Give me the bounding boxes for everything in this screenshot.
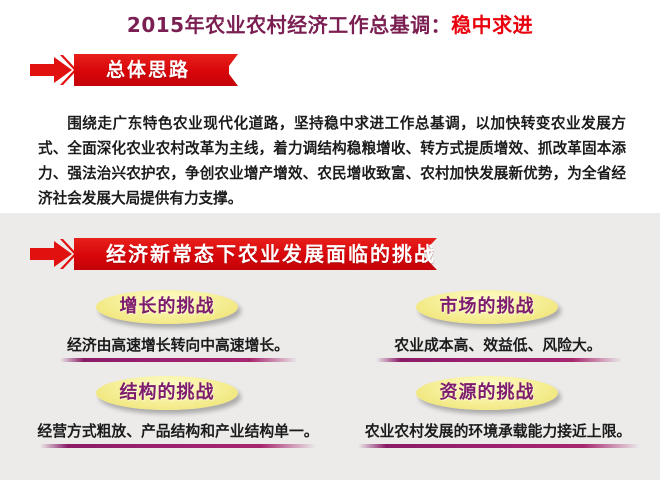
challenge-pill: 市场的挑战 (416, 290, 558, 324)
overview-paragraph: 围绕走广东特色农业现代化道路，坚持稳中求进工作总基调，以加快转变农业发展方式、全… (38, 111, 626, 211)
challenge-description: 经济由高速增长转向中高速增长。 (18, 334, 338, 355)
overview-banner-notch (208, 54, 238, 86)
page-title-emphasis: 稳中求进 (451, 13, 533, 37)
challenges-banner: 经济新常态下农业发展面临的挑战 (30, 238, 450, 270)
challenge-description: 农业成本高、效益低、风险大。 (338, 334, 658, 355)
overview-section: 2015年农业农村经济工作总基调：稳中求进 总体思路 围绕走广东特色农业现代化道… (0, 0, 660, 213)
challenge-pill: 增长的挑战 (96, 290, 238, 324)
challenges-banner-label: 经济新常态下农业发展面临的挑战 (106, 238, 436, 270)
challenge-underline (358, 444, 640, 448)
challenge-pill-label: 市场的挑战 (416, 290, 558, 324)
overview-banner: 总体思路 (30, 54, 245, 86)
page-title: 2015年农业农村经济工作总基调：稳中求进 (0, 9, 660, 38)
challenge-pill: 结构的挑战 (96, 376, 238, 410)
overview-banner-label: 总体思路 (106, 54, 190, 86)
challenge-pill: 资源的挑战 (416, 376, 558, 410)
challenge-underline (376, 358, 622, 362)
challenge-underline (60, 358, 298, 362)
challenge-pill-label: 增长的挑战 (96, 290, 238, 324)
challenge-underline (40, 444, 316, 448)
page-title-main: 2015年农业农村经济工作总基调： (127, 13, 451, 37)
challenge-pill-label: 资源的挑战 (416, 376, 558, 410)
challenge-description: 农业农村发展的环境承载能力接近上限。 (338, 420, 658, 441)
challenge-pill-label: 结构的挑战 (96, 376, 238, 410)
challenge-description: 经营方式粗放、产品结构和产业结构单一。 (18, 420, 338, 441)
